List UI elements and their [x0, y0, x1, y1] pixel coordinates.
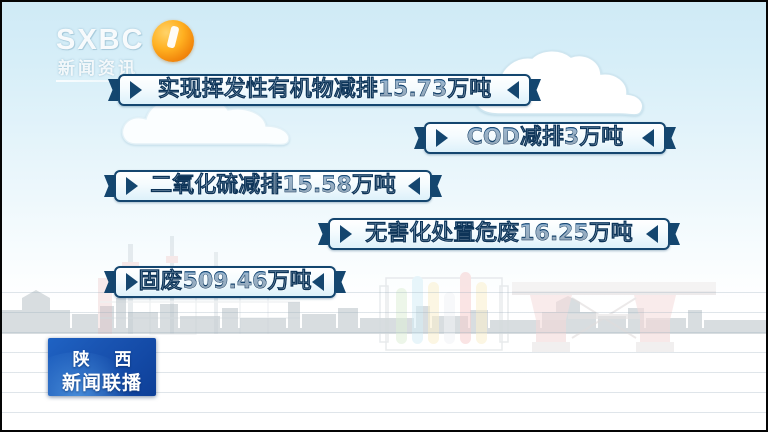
statistics-banner: COD减排3万吨	[414, 122, 676, 154]
banner-right-chevron-icon	[531, 79, 541, 101]
banner-arrow-icon	[312, 273, 324, 291]
banner-arrow-icon	[642, 129, 654, 147]
station-logo: SXBC 新闻资讯	[56, 18, 186, 76]
program-badge-region: 陕 西	[48, 345, 156, 370]
banner-right-chevron-icon	[432, 175, 442, 197]
statistics-banner: 实现挥发性有机物减排15.73万吨	[108, 74, 541, 106]
program-badge-title: 新闻联播	[48, 368, 156, 395]
banner-left-chevron-icon	[318, 223, 328, 245]
banner-right-chevron-icon	[666, 127, 676, 149]
banner-body: COD减排3万吨	[424, 122, 666, 154]
banner-body: 二氧化硫减排15.58万吨	[114, 170, 432, 202]
banner-body: 无害化处置危废16.25万吨	[328, 218, 670, 250]
banner-arrow-icon	[408, 177, 420, 195]
banner-text: COD减排3万吨	[446, 123, 644, 153]
banner-text: 固废509.46万吨	[136, 267, 314, 297]
banner-arrow-icon	[507, 81, 519, 99]
banner-text: 二氧化硫减排15.58万吨	[136, 171, 410, 201]
station-callsign: SXBC	[56, 24, 145, 57]
statistics-banner: 无害化处置危废16.25万吨	[318, 218, 680, 250]
banner-left-chevron-icon	[104, 175, 114, 197]
banner-left-chevron-icon	[104, 271, 114, 293]
banner-left-chevron-icon	[414, 127, 424, 149]
broadcast-screen: SXBC 新闻资讯 实现挥发性有机物减排15.73万吨COD减排3万吨二氧化硫减…	[0, 0, 768, 432]
banner-left-chevron-icon	[108, 79, 118, 101]
banner-arrow-icon	[646, 225, 658, 243]
program-badge: 陕 西 新闻联播	[48, 338, 156, 396]
banner-text: 无害化处置危废16.25万吨	[350, 219, 648, 249]
statistics-banner: 固废509.46万吨	[104, 266, 346, 298]
banner-text: 实现挥发性有机物减排15.73万吨	[140, 75, 509, 105]
statistics-banner: 二氧化硫减排15.58万吨	[104, 170, 442, 202]
orange-sphere-logo-icon	[152, 20, 194, 62]
banner-body: 实现挥发性有机物减排15.73万吨	[118, 74, 531, 106]
banner-right-chevron-icon	[670, 223, 680, 245]
banner-right-chevron-icon	[336, 271, 346, 293]
banner-body: 固废509.46万吨	[114, 266, 336, 298]
